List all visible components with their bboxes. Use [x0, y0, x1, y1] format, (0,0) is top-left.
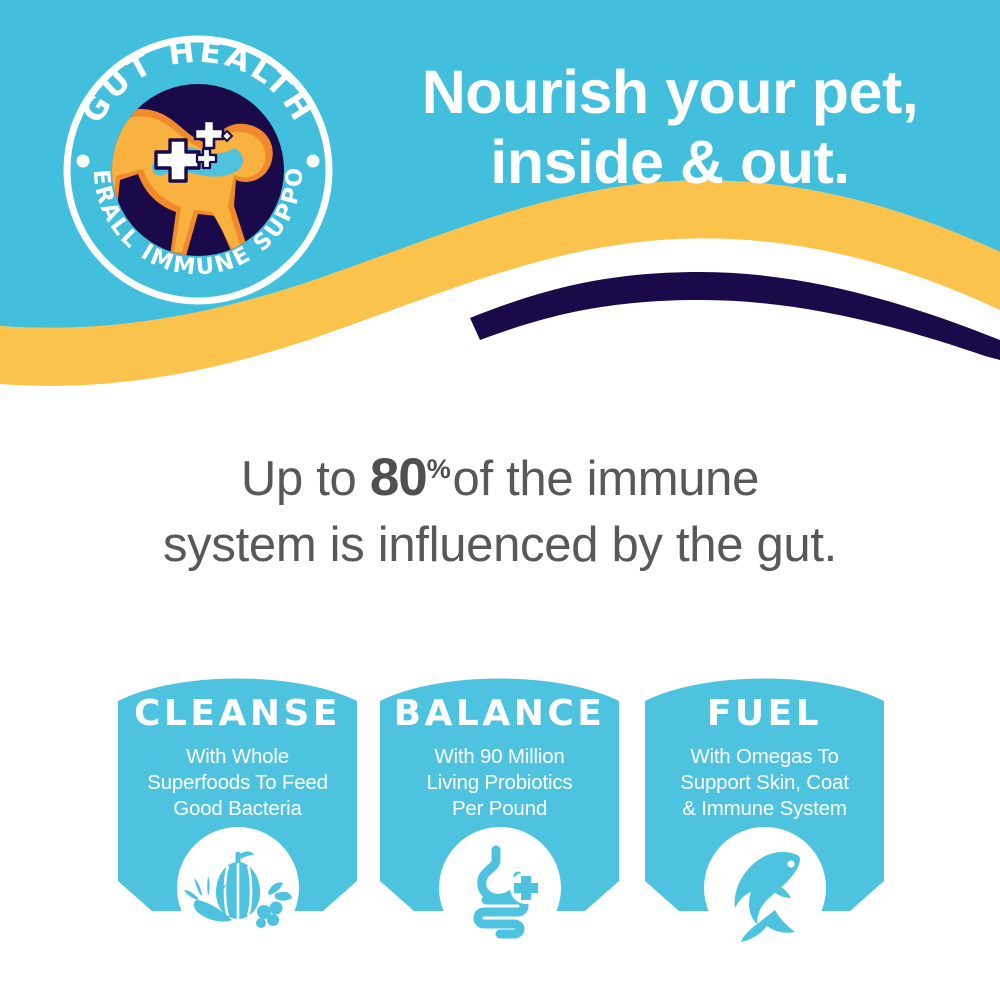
gut-health-badge: GUT HEALTH OVERALL IMMUNE SUPPORT [58, 30, 338, 310]
stat-prefix: Up to [241, 452, 370, 506]
stomach-intestine-cross-icon [438, 826, 562, 950]
card-desc-line-2: Living Probiotics [386, 770, 613, 796]
card-description: With Whole Superfoods To Feed Good Bacte… [118, 744, 357, 821]
card-description: With Omegas To Support Skin, Coat & Immu… [645, 744, 884, 821]
card-desc-line-3: & Immune System [651, 796, 878, 822]
card-title: BALANCE [380, 696, 619, 732]
salmon-fish-icon [703, 826, 827, 950]
badge-dot-left [77, 155, 90, 168]
card-desc-line-2: Superfoods To Feed [124, 770, 351, 796]
card-text-block: CLEANSE With Whole Superfoods To Feed Go… [118, 665, 357, 821]
stat-statement: Up to 80%of the immune system is influen… [90, 443, 910, 578]
card-description: With 90 Million Living Probiotics Per Po… [380, 744, 619, 821]
benefit-card-cleanse[interactable]: CLEANSE With Whole Superfoods To Feed Go… [118, 665, 357, 955]
card-desc-line-3: Per Pound [386, 796, 613, 822]
card-desc-line-1: With Omegas To [651, 744, 878, 770]
headline-line-1: Nourish your pet, [360, 58, 980, 128]
card-desc-line-1: With Whole [124, 744, 351, 770]
badge-dot-right [307, 155, 320, 168]
health-cross-icon [510, 872, 542, 904]
card-desc-line-3: Good Bacteria [124, 796, 351, 822]
benefit-card-fuel[interactable]: FUEL With Omegas To Support Skin, Coat &… [645, 665, 884, 955]
stat-line-2: system is influenced by the gut. [90, 513, 910, 578]
pumpkin-carrot-berries-icon [176, 826, 300, 950]
card-desc-line-2: Support Skin, Coat [651, 770, 878, 796]
stat-percent-symbol: % [427, 454, 451, 484]
card-title: CLEANSE [118, 696, 357, 732]
card-text-block: BALANCE With 90 Million Living Probiotic… [380, 665, 619, 821]
benefit-cards-row: CLEANSE With Whole Superfoods To Feed Go… [0, 665, 1000, 955]
card-title: FUEL [645, 696, 884, 732]
stat-number: 80 [370, 448, 427, 507]
stat-line-1: Up to 80%of the immune [90, 443, 910, 513]
card-text-block: FUEL With Omegas To Support Skin, Coat &… [645, 665, 884, 821]
card-desc-line-1: With 90 Million [386, 744, 613, 770]
stat-suffix: of the immune [453, 452, 760, 506]
headline-line-2: inside & out. [360, 128, 980, 198]
infographic-canvas: GUT HEALTH OVERALL IMMUNE SUPPORT Nouris… [0, 0, 1000, 1000]
headline: Nourish your pet, inside & out. [360, 58, 980, 197]
benefit-card-balance[interactable]: BALANCE With 90 Million Living Probiotic… [380, 665, 619, 955]
